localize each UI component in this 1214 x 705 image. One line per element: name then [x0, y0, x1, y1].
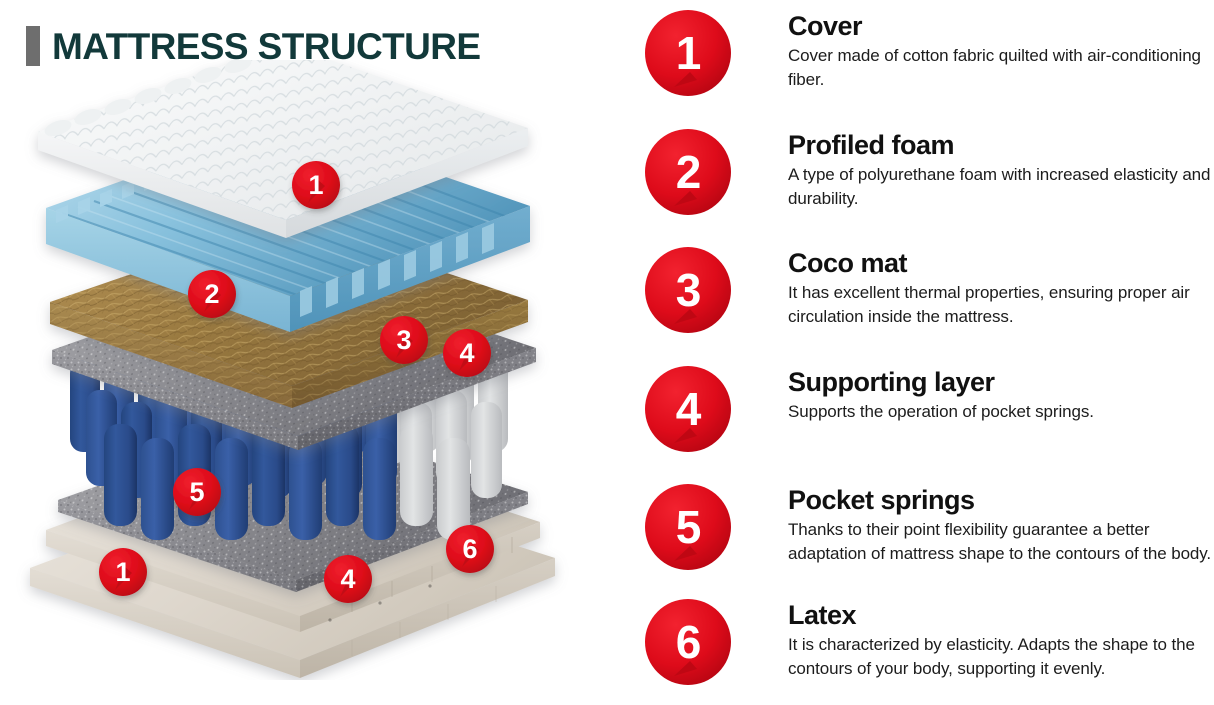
svg-text:1: 1 [115, 557, 130, 587]
legend-item-latex[interactable]: 6 Latex It is characterized by elasticit… [636, 599, 1214, 680]
svg-text:1: 1 [308, 170, 323, 200]
legend-description: A type of polyurethane foam with increas… [788, 163, 1214, 210]
page-title: MATTRESS STRUCTURE [26, 26, 480, 66]
legend-title: Cover [788, 12, 1214, 41]
legend-title: Latex [788, 601, 1214, 630]
diagram-marker-1-lower: 1 [99, 548, 147, 596]
svg-text:6: 6 [462, 534, 477, 564]
diagram-marker-1-cover: 1 [292, 161, 340, 209]
number-pin-5: 5 [645, 484, 731, 588]
diagram-marker-3-coco-mat: 3 [380, 316, 428, 364]
number-pin-2: 2 [645, 129, 731, 233]
legend-item-profiled-foam[interactable]: 2 Profiled foam A type of polyurethane f… [636, 129, 1214, 210]
number-pin-6: 6 [645, 599, 731, 703]
legend-description: Supports the operation of pocket springs… [788, 400, 1214, 423]
legend-description: Cover made of cotton fabric quilted with… [788, 44, 1214, 91]
diagram-marker-6-latex: 6 [446, 525, 494, 573]
legend-title: Supporting layer [788, 368, 1214, 397]
legend-text-column: Pocket springs Thanks to their point fle… [788, 484, 1214, 565]
legend-item-pocket-springs[interactable]: 5 Pocket springs Thanks to their point f… [636, 484, 1214, 565]
legend-item-supporting-layer[interactable]: 4 Supporting layer Supports the operatio… [636, 366, 1214, 424]
infographic-page: MATTRESS STRUCTURE [0, 0, 1214, 705]
title-label: MATTRESS STRUCTURE [52, 28, 480, 65]
legend-description: It has excellent thermal properties, ens… [788, 281, 1214, 328]
legend-item-cover[interactable]: 1 Cover Cover made of cotton fabric quil… [636, 10, 1214, 91]
legend-title: Pocket springs [788, 486, 1214, 515]
legend-text-column: Profiled foam A type of polyurethane foa… [788, 129, 1214, 210]
diagram-marker-4-supporting-layer: 4 [443, 329, 491, 377]
number-pin-4: 4 [645, 366, 731, 470]
svg-text:3: 3 [396, 325, 411, 355]
legend-item-coco-mat[interactable]: 3 Coco mat It has excellent thermal prop… [636, 247, 1214, 328]
number-pin-1: 1 [645, 10, 731, 114]
diagram-marker-2-profiled-foam: 2 [188, 270, 236, 318]
legend-title: Profiled foam [788, 131, 1214, 160]
legend-text-column: Supporting layer Supports the operation … [788, 366, 1214, 424]
svg-text:4: 4 [340, 564, 355, 594]
diagram-marker-5-pocket-springs: 5 [173, 468, 221, 516]
legend-text-column: Coco mat It has excellent thermal proper… [788, 247, 1214, 328]
legend-text-column: Latex It is characterized by elasticity.… [788, 599, 1214, 680]
legend-title: Coco mat [788, 249, 1214, 278]
layer-legend-list: 1 Cover Cover made of cotton fabric quil… [636, 0, 1214, 705]
legend-text-column: Cover Cover made of cotton fabric quilte… [788, 10, 1214, 91]
legend-description: It is characterized by elasticity. Adapt… [788, 633, 1214, 680]
number-pin-3: 3 [645, 247, 731, 351]
title-accent-bar [26, 26, 40, 66]
svg-text:2: 2 [204, 279, 219, 309]
svg-text:4: 4 [459, 338, 474, 368]
mattress-exploded-diagram: 1 2 3 4 5 [0, 60, 620, 680]
legend-description: Thanks to their point flexibility guaran… [788, 518, 1214, 565]
svg-text:5: 5 [189, 477, 204, 507]
diagram-marker-4-lower: 4 [324, 555, 372, 603]
